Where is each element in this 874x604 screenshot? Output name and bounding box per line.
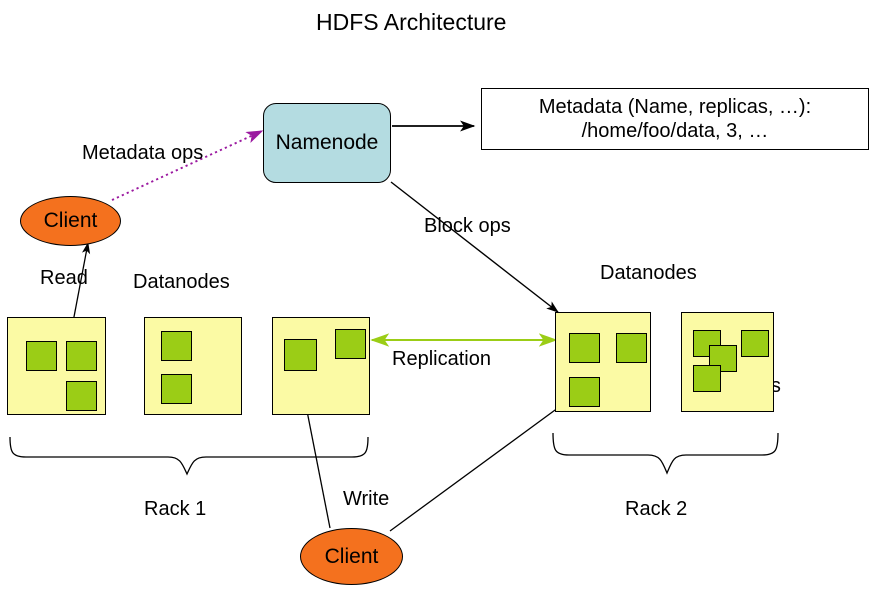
block[interactable]	[66, 341, 97, 371]
datanodes-right-label: Datanodes	[600, 262, 697, 284]
block[interactable]	[569, 333, 600, 363]
block[interactable]	[26, 341, 57, 371]
client-bottom-label: Client	[325, 545, 379, 569]
namenode-box[interactable]: Namenode	[263, 103, 391, 183]
block[interactable]	[616, 333, 647, 363]
metadata-box: Metadata (Name, replicas, …): /home/foo/…	[481, 88, 869, 150]
datanode-5[interactable]	[681, 312, 774, 412]
block[interactable]	[161, 331, 192, 361]
client-node-write[interactable]: Client	[300, 528, 403, 585]
write-label: Write	[343, 488, 389, 510]
block-ops-arrow	[391, 182, 558, 312]
datanode-2[interactable]	[144, 317, 242, 415]
block[interactable]	[693, 365, 721, 392]
block[interactable]	[161, 374, 192, 404]
read-label: Read	[40, 267, 88, 289]
datanode-1[interactable]	[7, 317, 106, 415]
metadata-ops-label: Metadata ops	[82, 142, 203, 164]
rack1-brace	[10, 437, 368, 474]
metadata-line-2: /home/foo/data, 3, …	[582, 119, 769, 143]
datanodes-left-label: Datanodes	[133, 271, 230, 293]
rack2-label: Rack 2	[625, 498, 687, 520]
replication-label: Replication	[392, 348, 491, 370]
block[interactable]	[741, 330, 769, 357]
block-ops-label: Block ops	[424, 215, 511, 237]
datanode-4[interactable]	[555, 312, 651, 412]
write-arrow-rack2	[390, 402, 566, 531]
block[interactable]	[335, 329, 366, 359]
client-top-label: Client	[44, 209, 98, 233]
datanode-3[interactable]	[272, 317, 370, 415]
client-node-read[interactable]: Client	[20, 196, 121, 246]
metadata-line-1: Metadata (Name, replicas, …):	[539, 95, 811, 119]
hdfs-architecture-diagram: HDFS Architecture Namenode --> right rac…	[0, 0, 874, 604]
block[interactable]	[66, 381, 97, 411]
block[interactable]	[284, 339, 317, 371]
rack2-brace	[553, 433, 778, 473]
block[interactable]	[569, 377, 600, 407]
namenode-label: Namenode	[276, 131, 379, 155]
rack1-label: Rack 1	[144, 498, 206, 520]
